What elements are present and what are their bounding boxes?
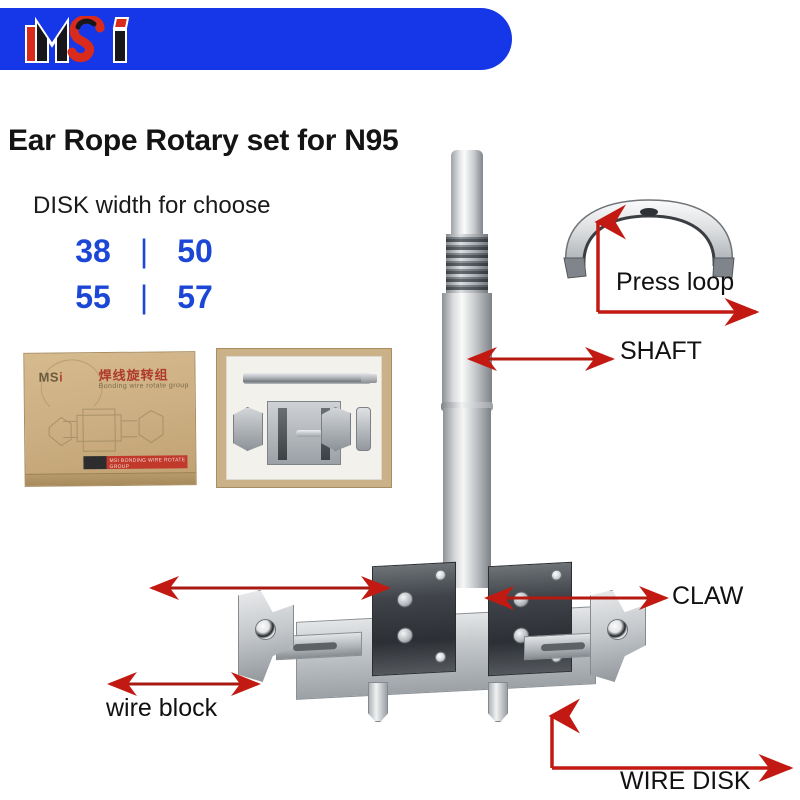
wire-disk-left — [368, 682, 388, 722]
kit-left-claw-part — [233, 407, 263, 451]
claw-screw — [397, 591, 413, 608]
banner-torn-edge — [255, 60, 515, 86]
disk-width-option-55[interactable]: 55 — [56, 279, 130, 316]
claw-hole — [435, 651, 446, 663]
slide-arm-slot — [293, 642, 337, 651]
label-shaft: SHAFT — [620, 337, 702, 366]
claw-plate-left — [372, 562, 456, 676]
shaft-threaded-section — [446, 234, 488, 296]
disk-width-row: 55 | 57 — [56, 274, 336, 320]
option-separator: | — [130, 279, 158, 316]
disk-width-option-50[interactable]: 50 — [158, 233, 232, 270]
label-wire-disk: WIRE DISK — [620, 767, 751, 796]
disk-width-option-57[interactable]: 57 — [158, 279, 232, 316]
rotary-set-assembly-photo — [232, 556, 652, 786]
wire-disk-right — [488, 682, 508, 722]
kit-press-loop-part — [356, 407, 371, 451]
claw-hole — [551, 569, 562, 581]
shaft-tip — [451, 150, 483, 236]
box-stripe: MSI BONDING WIRE ROTATE GROUP — [83, 455, 187, 469]
wire-block-right — [590, 590, 646, 682]
option-separator: | — [130, 233, 158, 270]
product-image-canvas: Ear Rope Rotary set for N95 DISK width f… — [0, 0, 800, 800]
shaft-mid-body — [442, 293, 492, 405]
box-logo: MSi — [38, 369, 63, 384]
claw-screw — [513, 591, 529, 608]
disk-width-row: 38 | 50 — [56, 228, 336, 274]
claw-screw — [397, 627, 413, 644]
packaging-box-open-photo — [216, 348, 392, 488]
msi-logo — [22, 16, 152, 64]
box-line-art — [43, 400, 174, 459]
wire-block-left — [238, 590, 294, 682]
label-press-loop: Press loop — [616, 268, 734, 297]
kit-shaft-part — [243, 373, 371, 384]
packaging-box-closed-photo: MSi 焊线旋转组 Bonding wire rotate group MSI … — [23, 351, 196, 487]
wire-block-screw — [607, 619, 628, 640]
label-claw: CLAW — [672, 582, 743, 611]
box-title-en: Bonding wire rotate group — [99, 382, 189, 390]
kit-right-claw-part — [321, 407, 351, 451]
disk-width-subtitle: DISK width for choose — [33, 192, 270, 220]
claw-hole — [435, 569, 446, 581]
box-foam-insert — [226, 356, 382, 480]
page-title: Ear Rope Rotary set for N95 — [8, 124, 398, 158]
slide-arm-slot — [541, 642, 585, 651]
disk-width-options: 38 | 50 55 | 57 — [56, 228, 336, 320]
shaft-photo — [432, 150, 502, 580]
label-wire-block: wire block — [106, 694, 217, 723]
box-lid-edge — [26, 472, 196, 486]
box-stripe-text: MSI BONDING WIRE ROTATE GROUP — [109, 457, 187, 470]
disk-width-option-38[interactable]: 38 — [56, 233, 130, 270]
box-title-cn: 焊线旋转组 — [98, 364, 168, 384]
kit-rail-left — [278, 408, 287, 460]
wire-block-screw — [255, 619, 276, 640]
kit-center-pin — [296, 430, 322, 437]
